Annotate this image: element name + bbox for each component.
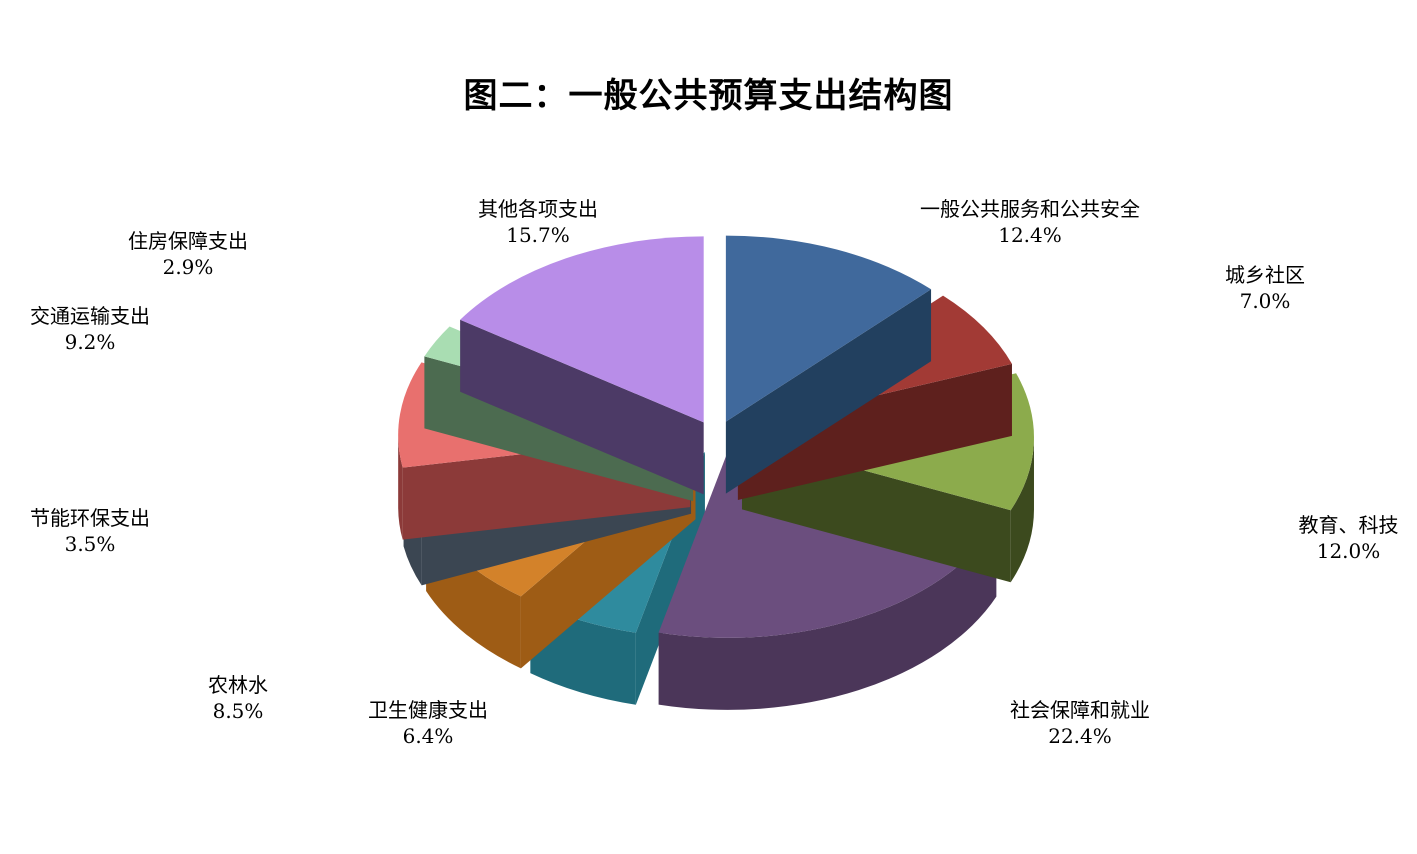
label-transport: 交通运输支出 9.2% [0, 303, 180, 356]
label-social-security: 社会保障和就业 22.4% [955, 697, 1205, 750]
label-percent: 12.0% [1280, 538, 1417, 564]
label-percent: 12.4% [880, 222, 1180, 248]
label-name: 住房保障支出 [88, 228, 288, 254]
label-percent: 22.4% [955, 723, 1205, 749]
pie-chart-figure: 图二：一般公共预算支出结构图 一般公共服务和公共安全 12.4% 城乡社区 7.… [0, 0, 1417, 854]
label-education-tech: 教育、科技 12.0% [1280, 512, 1417, 565]
label-general-public-service: 一般公共服务和公共安全 12.4% [880, 196, 1180, 249]
label-percent: 15.7% [438, 222, 638, 248]
label-name: 其他各项支出 [438, 196, 638, 222]
label-percent: 8.5% [148, 698, 328, 724]
label-name: 交通运输支出 [0, 303, 180, 329]
label-name: 卫生健康支出 [318, 697, 538, 723]
label-energy-environment: 节能环保支出 3.5% [0, 505, 180, 558]
label-name: 社会保障和就业 [955, 697, 1205, 723]
label-percent: 2.9% [88, 254, 288, 280]
pie-slices-group [398, 236, 1034, 710]
label-name: 教育、科技 [1280, 512, 1417, 538]
label-percent: 7.0% [1175, 288, 1355, 314]
label-percent: 3.5% [0, 531, 180, 557]
label-housing: 住房保障支出 2.9% [88, 228, 288, 281]
label-name: 农林水 [148, 672, 328, 698]
label-urban-rural-community: 城乡社区 7.0% [1175, 262, 1355, 315]
label-percent: 9.2% [0, 329, 180, 355]
label-other: 其他各项支出 15.7% [438, 196, 638, 249]
label-name: 一般公共服务和公共安全 [880, 196, 1180, 222]
label-health: 卫生健康支出 6.4% [318, 697, 538, 750]
label-agriculture: 农林水 8.5% [148, 672, 328, 725]
label-name: 节能环保支出 [0, 505, 180, 531]
label-percent: 6.4% [318, 723, 538, 749]
label-name: 城乡社区 [1175, 262, 1355, 288]
